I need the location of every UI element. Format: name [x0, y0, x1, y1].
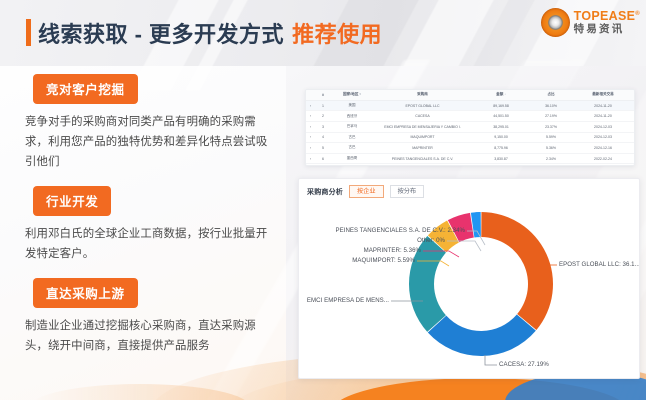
- logo-text-en: TOPEASE®: [574, 10, 640, 23]
- tab-by-distribution[interactable]: 按分布: [390, 185, 425, 198]
- th-buyer-name: 采购商: [373, 90, 472, 100]
- row-expand-icon[interactable]: ›: [306, 153, 315, 164]
- row-expand-icon[interactable]: ›: [306, 100, 315, 111]
- cell-amount: 3,830.87: [472, 153, 530, 164]
- cell-amount: 9,150.00: [472, 132, 530, 143]
- cell-index: 6: [315, 153, 331, 164]
- logo-en-word: TOPEASE: [574, 9, 636, 23]
- cell-date: 2024-12-03: [572, 121, 634, 132]
- feature-list: 竞对客户挖掘 竞争对手的采购商对同类产品有明确的采购需求，利用您产品的独特优势和…: [0, 74, 288, 370]
- page-title-highlight: 推荐使用: [292, 22, 382, 47]
- logo-text-cn: 特易资讯: [574, 24, 640, 35]
- label-peines: PEINES TANGENCIALES S.A. DE C.V.: 2.34%: [299, 227, 465, 234]
- table-row[interactable]: › 5 古巴 MAPRINTER 8,775.96 5.36% 2024-12-…: [306, 143, 634, 154]
- cell-country: 美国: [331, 100, 373, 111]
- table-header: # 国家/地区▾ 采购商 金额↓ 占比 最新相关交易: [306, 90, 634, 100]
- buyer-table: # 国家/地区▾ 采购商 金额↓ 占比 最新相关交易 › 1 美国 EPOST …: [306, 90, 634, 164]
- th-latest-deal: 最新相关交易: [572, 90, 634, 100]
- cell-country: 墨西哥: [331, 153, 373, 164]
- label-maprinter: MAPRINTER: 5.36%: [299, 247, 421, 254]
- feature-description: 竞争对手的采购商对同类产品有明确的采购需求，利用您产品的独特优势和差异化特点尝试…: [25, 113, 268, 173]
- cell-percent: 2.34%: [530, 153, 572, 164]
- row-expand-icon[interactable]: ›: [306, 111, 315, 122]
- feature-description: 利用邓白氏的全球企业工商数据，按行业批量开发特定客户。: [25, 225, 268, 265]
- tab-by-company[interactable]: 按企业: [349, 185, 384, 198]
- cell-buyer-name[interactable]: CACESA: [373, 111, 472, 122]
- th-percent: 占比: [530, 90, 572, 100]
- cell-index: 2: [315, 111, 331, 122]
- feature-block: 行业开发 利用邓白氏的全球企业工商数据，按行业批量开发特定客户。: [0, 186, 288, 265]
- th-amount[interactable]: 金额↓: [472, 90, 530, 100]
- table-row[interactable]: › 4 古巴 MAQUIMPORT 9,150.00 5.59% 2024-12…: [306, 132, 634, 143]
- cell-buyer-name[interactable]: MAPRINTER: [373, 143, 472, 154]
- table-header-row: # 国家/地区▾ 采购商 金额↓ 占比 最新相关交易: [306, 90, 634, 100]
- cell-index: 4: [315, 132, 331, 143]
- cell-buyer-name[interactable]: EMCI EMPRESA DE MENSAJERIA Y CAMBIO I.: [373, 121, 472, 132]
- cell-country: 古巴: [331, 143, 373, 154]
- chart-body: PEINES TANGENCIALES S.A. DE C.V.: 2.34% …: [299, 203, 640, 379]
- table-row[interactable]: › 2 西班牙 CACESA 44,501.50 27.19% 2024-11-…: [306, 111, 634, 122]
- cell-date: 2024-12-03: [572, 132, 634, 143]
- cell-amount: 89,169.58: [472, 100, 530, 111]
- cell-percent: 5.36%: [530, 143, 572, 154]
- cell-buyer-name[interactable]: PEINES TANGENCIALES S.A. DE C.V.: [373, 153, 472, 164]
- th-country[interactable]: 国家/地区▾: [331, 90, 373, 100]
- row-expand-icon[interactable]: ›: [306, 143, 315, 154]
- cell-percent: 36.10%: [530, 100, 572, 111]
- cell-country: 西班牙: [331, 111, 373, 122]
- row-expand-icon[interactable]: ›: [306, 121, 315, 132]
- label-cacesa: CACESA: 27.19%: [499, 361, 549, 368]
- buyer-table-card: # 国家/地区▾ 采购商 金额↓ 占比 最新相关交易 › 1 美国 EPOST …: [305, 89, 635, 166]
- cell-date: 2022-02-24: [572, 153, 634, 164]
- cell-amount: 8,775.96: [472, 143, 530, 154]
- cell-buyer-name[interactable]: MAQUIMPORT: [373, 132, 472, 143]
- label-emci: EMCI EMPRESA DE MENS...: [299, 297, 389, 304]
- chart-header: 采购商分析 按企业 按分布: [307, 185, 424, 198]
- cell-amount: 44,501.50: [472, 111, 530, 122]
- cell-index: 3: [315, 121, 331, 132]
- cell-country: 巴拿马: [331, 121, 373, 132]
- cell-index: 5: [315, 143, 331, 154]
- cell-amount: 38,295.01: [472, 121, 530, 132]
- feature-tag: 竞对客户挖掘: [33, 74, 138, 104]
- th-amount-label: 金额: [496, 92, 503, 96]
- leader-maquimport: [417, 261, 449, 266]
- chart-title: 采购商分析: [307, 187, 343, 197]
- page-header: 线索获取 - 更多开发方式推荐使用 TOPEASE® 特易资讯: [0, 0, 646, 66]
- leader-cacesa: [485, 355, 497, 365]
- feature-block: 直达采购上游 制造业企业通过挖掘核心采购商，直达采购源头，绕开中间商，直接提供产…: [0, 278, 288, 357]
- feature-block: 竞对客户挖掘 竞争对手的采购商对同类产品有明确的采购需求，利用您产品的独特优势和…: [0, 74, 288, 173]
- th-index: #: [315, 90, 331, 100]
- sort-arrow-icon: ▾: [359, 92, 361, 96]
- page-title-main: 线索获取 - 更多开发方式: [38, 22, 284, 47]
- cell-index: 1: [315, 100, 331, 111]
- leader-other: [447, 241, 481, 251]
- table-body: › 1 美国 EPOST GLOBAL LLC 89,169.58 36.10%…: [306, 100, 634, 164]
- row-expand-icon[interactable]: ›: [306, 132, 315, 143]
- page-title: 线索获取 - 更多开发方式推荐使用: [38, 17, 382, 49]
- title-accent-bar: [26, 19, 31, 46]
- feature-description: 制造业企业通过挖掘核心采购商，直达采购源头，绕开中间商，直接提供产品服务: [25, 317, 268, 357]
- label-maquimport: MAQUIMPORT: 5.59%: [299, 257, 415, 264]
- cell-percent: 27.19%: [530, 111, 572, 122]
- cell-buyer-name[interactable]: EPOST GLOBAL LLC: [373, 100, 472, 111]
- brand-logo: TOPEASE® 特易资讯: [541, 8, 640, 37]
- leader-maprinter: [423, 251, 459, 257]
- cell-date: 2024-11-20: [572, 100, 634, 111]
- logo-circle-icon: [541, 8, 570, 37]
- cell-date: 2024-11-20: [572, 111, 634, 122]
- cell-date: 2024-12-16: [572, 143, 634, 154]
- table-row[interactable]: › 3 巴拿马 EMCI EMPRESA DE MENSAJERIA Y CAM…: [306, 121, 634, 132]
- logo-registered-mark: ®: [635, 11, 640, 17]
- cell-percent: 23.37%: [530, 121, 572, 132]
- feature-tag: 行业开发: [33, 186, 111, 216]
- table-row[interactable]: › 1 美国 EPOST GLOBAL LLC 89,169.58 36.10%…: [306, 100, 634, 111]
- sort-arrow-icon: ↓: [504, 92, 506, 96]
- th-expand: [306, 90, 315, 100]
- logo-text: TOPEASE® 特易资讯: [574, 10, 640, 34]
- table-row[interactable]: › 6 墨西哥 PEINES TANGENCIALES S.A. DE C.V.…: [306, 153, 634, 164]
- buyer-analysis-chart-card: 采购商分析 按企业 按分布 PEINES TANGENCIALES S.A. D…: [298, 178, 640, 379]
- cell-country: 古巴: [331, 132, 373, 143]
- th-country-label: 国家/地区: [343, 92, 358, 96]
- label-epost: EPOST GLOBAL LLC: 36.1...: [559, 261, 640, 268]
- cell-percent: 5.59%: [530, 132, 572, 143]
- feature-tag: 直达采购上游: [33, 278, 138, 308]
- label-other: Other: 0%: [299, 237, 445, 244]
